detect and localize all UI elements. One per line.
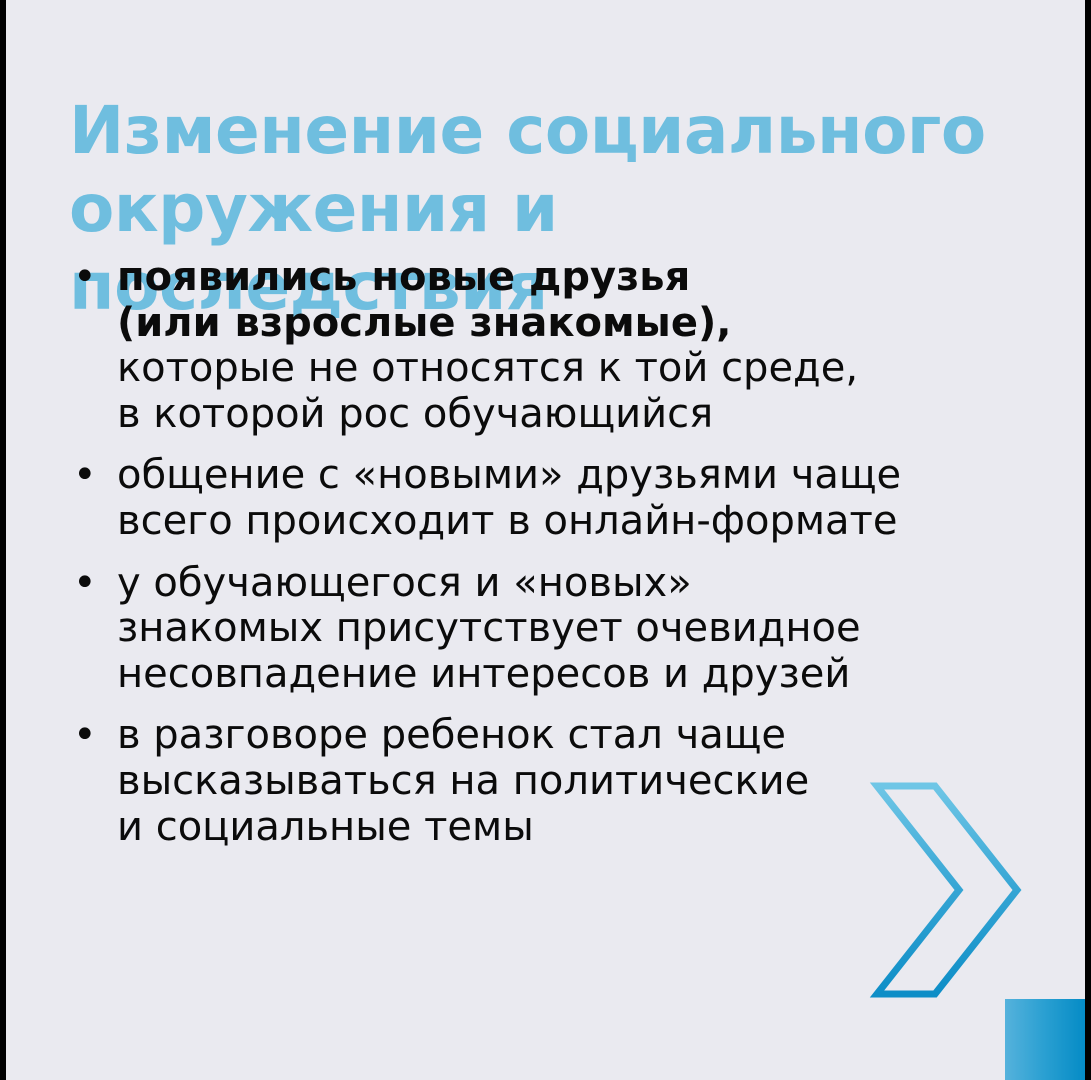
corner-accent-block xyxy=(1005,999,1085,1080)
list-item-rest: которые не относятся к той среде, в кото… xyxy=(117,345,858,437)
slide-edge-right xyxy=(1085,0,1091,1080)
bullet-marker-icon: • xyxy=(73,453,97,499)
bullet-marker-icon: • xyxy=(73,713,97,759)
list-item-body: общение с «новыми» друзьями чаще всего п… xyxy=(117,453,1045,544)
bullet-marker-icon: • xyxy=(73,561,97,607)
bullet-list: • появились новые друзья (или взрослые з… xyxy=(65,255,1045,866)
list-item: • общение с «новыми» друзьями чаще всего… xyxy=(65,453,1045,544)
slide-edge-left xyxy=(0,0,6,1080)
list-item: • у обучающегося и «новых» знакомых прис… xyxy=(65,561,1045,698)
bullet-marker-icon: • xyxy=(73,255,97,301)
list-item-lead: появились новые друзья (или взрослые зна… xyxy=(117,254,731,346)
list-item-body: у обучающегося и «новых» знакомых присут… xyxy=(117,561,1045,698)
list-item-body: появились новые друзья (или взрослые зна… xyxy=(117,255,1045,437)
list-item: • появились новые друзья (или взрослые з… xyxy=(65,255,1045,437)
slide-surface: Изменение социального окружения и послед… xyxy=(5,0,1085,1080)
presentation-slide: Изменение социального окружения и послед… xyxy=(0,0,1091,1080)
list-item: • в разговоре ребенок стал чаще высказыв… xyxy=(65,713,1045,850)
list-item-body: в разговоре ребенок стал чаще высказыват… xyxy=(117,713,1045,850)
